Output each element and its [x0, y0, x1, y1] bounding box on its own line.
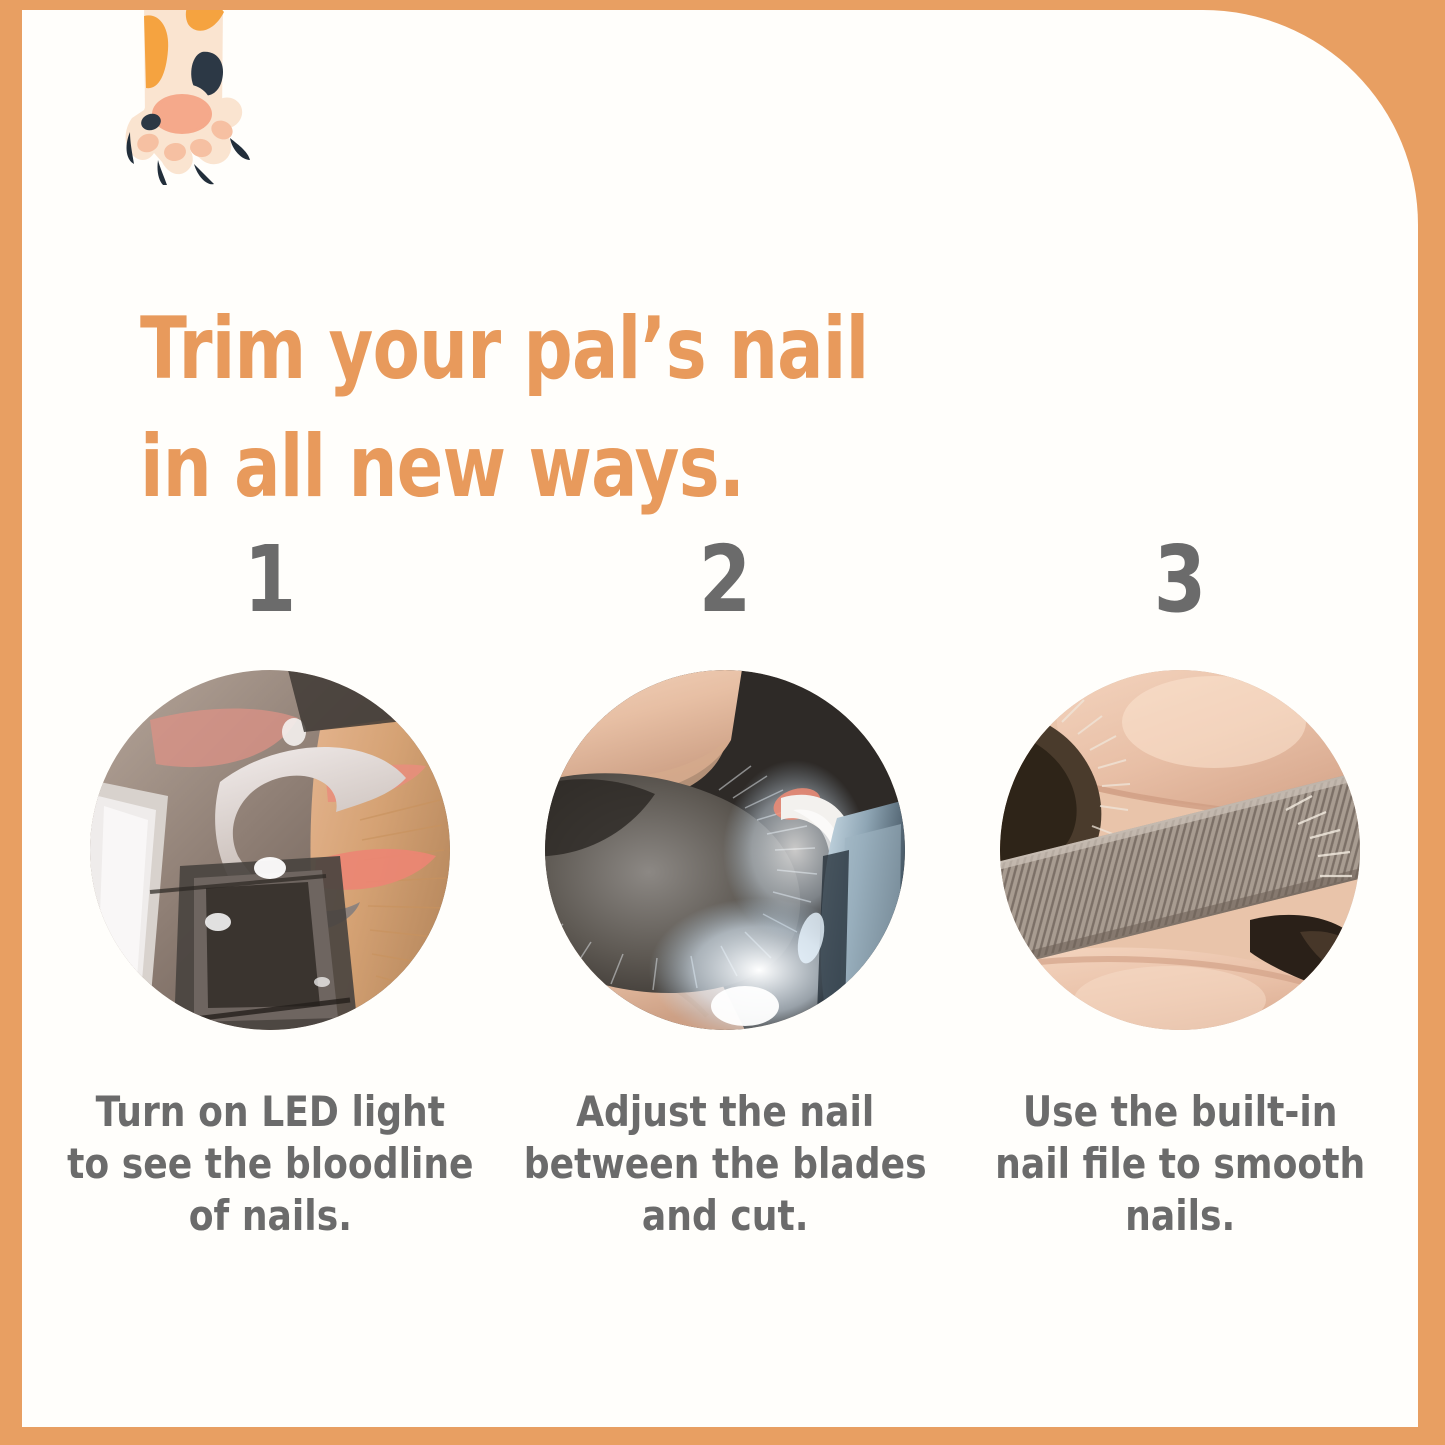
photo-nail-between-blades: [545, 670, 905, 1030]
step-2: 2: [511, 530, 939, 1242]
step-number: 3: [1154, 530, 1206, 630]
caption-line: Use the built-in: [995, 1086, 1365, 1138]
caption-line: nails.: [995, 1190, 1365, 1242]
caption-line: to see the bloodline: [67, 1138, 473, 1190]
step-number: 2: [699, 530, 751, 630]
step-number: 1: [244, 530, 296, 630]
step-1: 1: [56, 530, 484, 1242]
caption-line: and cut.: [524, 1190, 927, 1242]
cat-paw-icon: [118, 10, 253, 185]
step-3: 3: [966, 530, 1394, 1242]
photo-builtin-nail-file: [1000, 670, 1360, 1030]
product-infographic-page: Trim your pal’s nail in all new ways. 1: [0, 0, 1445, 1445]
caption-line: Adjust the nail: [524, 1086, 927, 1138]
steps-row: 1: [56, 530, 1394, 1242]
photo-led-light-bloodline: [90, 670, 450, 1030]
caption-line: Turn on LED light: [67, 1086, 473, 1138]
step-caption: Use the built-in nail file to smooth nai…: [995, 1086, 1365, 1242]
headline-line-2: in all new ways.: [140, 408, 780, 526]
content-card: Trim your pal’s nail in all new ways. 1: [22, 10, 1418, 1427]
page-title: Trim your pal’s nail in all new ways.: [140, 290, 780, 526]
step-caption: Adjust the nail between the blades and c…: [524, 1086, 927, 1242]
step-caption: Turn on LED light to see the bloodline o…: [67, 1086, 473, 1242]
caption-line: nail file to smooth: [995, 1138, 1365, 1190]
headline-line-1: Trim your pal’s nail: [140, 290, 780, 408]
caption-line: between the blades: [524, 1138, 927, 1190]
caption-line: of nails.: [67, 1190, 473, 1242]
